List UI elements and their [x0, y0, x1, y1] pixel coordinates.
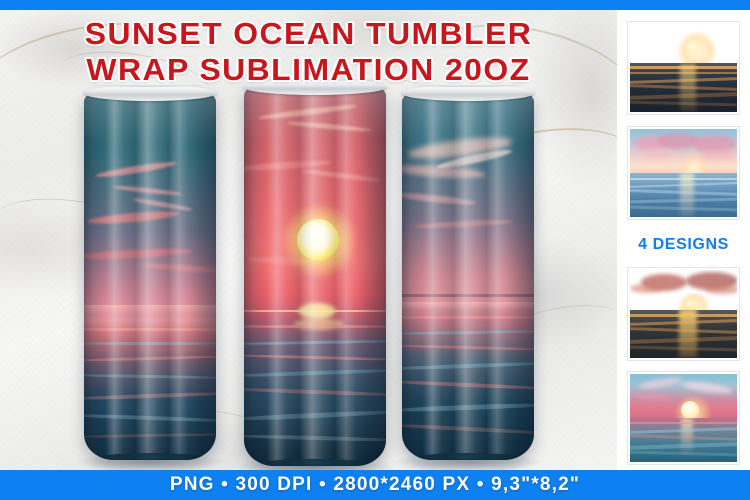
thumbnail-design-1[interactable]: [628, 22, 739, 114]
ocean-ripple: [244, 368, 386, 378]
ocean-ripple: [84, 413, 216, 423]
ocean-ripple: [244, 310, 386, 312]
specs-bottom-bar: PNG • 300 DPI • 2800*2460 PX • 9,3"*8,2": [0, 470, 750, 500]
ocean-ripple: [244, 354, 386, 361]
ocean-ripple: [402, 379, 534, 390]
design-thumbnail-rail: 4 DESIGNS: [617, 10, 750, 470]
tumbler-right-body: [402, 92, 534, 460]
ocean-ripple: [84, 433, 216, 439]
ocean-ripple: [402, 402, 534, 413]
cloud-wisp: [258, 103, 357, 121]
horizon-glow: [402, 302, 534, 310]
thumbnail-design-2[interactable]: [628, 127, 739, 219]
cloud-wisp: [132, 197, 193, 212]
tumbler-left: [84, 92, 216, 460]
thumb3-cloud: [705, 285, 739, 294]
ocean-ripple: [244, 325, 386, 328]
cloud-wisp: [86, 209, 179, 226]
ocean-ripple: [402, 362, 534, 372]
cloud-wisp: [142, 262, 216, 274]
product-title-line-2: WRAP SUBLIMATION 20OZ: [0, 52, 626, 88]
tumbler-right-base: [410, 453, 526, 460]
horizon-glow: [84, 305, 216, 315]
product-mockup-canvas: SUNSET OCEAN TUMBLER WRAP SUBLIMATION 20…: [0, 0, 750, 500]
ocean-ripple: [244, 409, 386, 421]
cloud-wisp: [287, 120, 372, 132]
thumb2-wave-highlight: [630, 178, 737, 180]
tumbler-left-body: [84, 92, 216, 460]
thumb1-sun-reflection: [680, 64, 696, 112]
tumbler-left-artwork: [84, 92, 216, 460]
ocean-ripple: [84, 391, 216, 401]
thumb4-wave-highlight: [630, 422, 737, 424]
thumbnail-design-3[interactable]: [628, 268, 739, 360]
thumb1-sun-disk: [686, 40, 699, 53]
ocean-ripple: [84, 328, 216, 331]
tumbler-center-artwork: [244, 86, 386, 466]
ocean-ripple: [84, 355, 216, 362]
thumb3-sun-disk: [685, 299, 695, 309]
cloud-wisp: [415, 218, 513, 229]
cloud-wisp: [113, 184, 182, 196]
tumbler-center-body: [244, 86, 386, 466]
thumbnail-design-4[interactable]: [628, 372, 739, 464]
cloud-wisp: [95, 159, 177, 179]
ocean-ripple: [244, 339, 386, 345]
designs-count-label: 4 DESIGNS: [617, 236, 750, 254]
ocean-ripple: [244, 387, 386, 397]
ocean-ripple: [84, 342, 216, 345]
cloud-wisp: [301, 169, 381, 184]
horizon-line: [402, 294, 534, 297]
tumbler-center: [244, 86, 386, 466]
ocean-ripple: [84, 374, 216, 380]
ocean-ripple: [402, 330, 534, 336]
product-title-line-1: SUNSET OCEAN TUMBLER: [0, 16, 626, 52]
thumb3-wave-highlight: [630, 314, 737, 317]
tumbler-left-base: [92, 453, 208, 460]
cloud-wisp: [402, 190, 476, 206]
specs-text: PNG • 300 DPI • 2800*2460 PX • 9,3"*8,2": [170, 474, 580, 496]
cloud-wisp: [84, 247, 192, 261]
tumbler-right: [402, 92, 534, 460]
top-accent-bar: [0, 0, 750, 10]
ocean-ripple: [402, 316, 534, 319]
ocean-ripple: [402, 344, 534, 351]
tumbler-right-artwork: [402, 92, 534, 460]
sun-disk: [297, 219, 339, 261]
ocean-ripple: [244, 433, 386, 441]
tumbler-center-base: [253, 459, 378, 466]
ocean-ripple: [402, 423, 534, 435]
